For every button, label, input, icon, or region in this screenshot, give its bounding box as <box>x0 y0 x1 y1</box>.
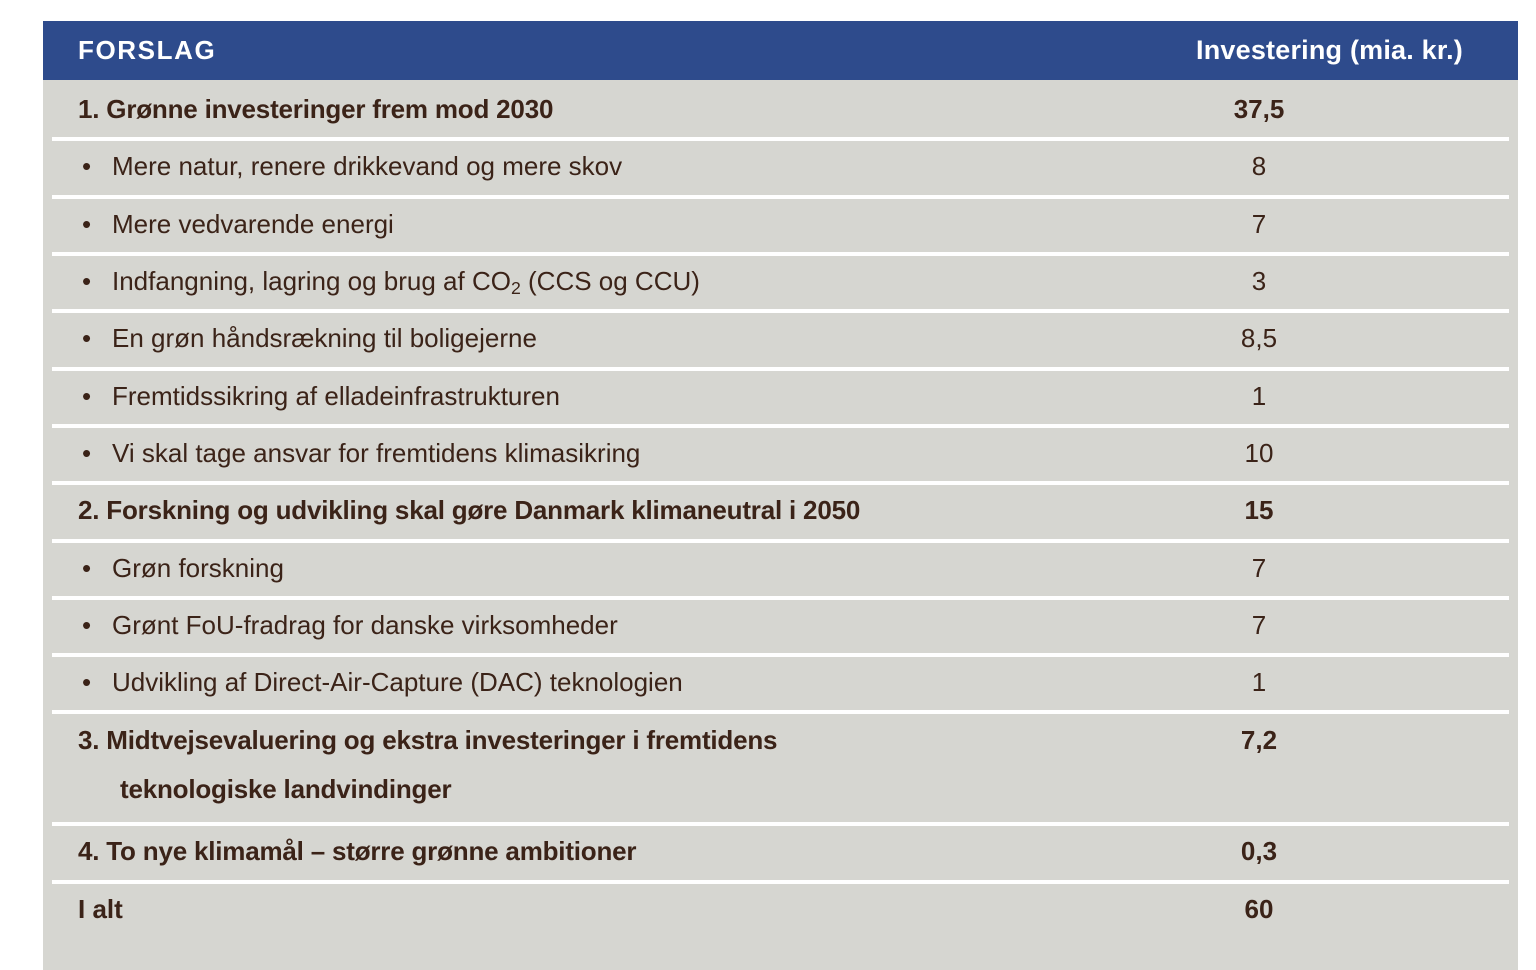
table-row: • Grønt FoU-fradrag for danske virksomhe… <box>43 596 1518 653</box>
subscript-two: 2 <box>511 278 521 298</box>
row-value: 8,5 <box>1098 309 1518 366</box>
row-label: • En grøn håndsrækning til boligejerne <box>43 309 1098 366</box>
row-value: 7,2 <box>1098 710 1518 768</box>
row-label: • Udvikling af Direct-Air-Capture (DAC) … <box>43 653 1098 710</box>
table-row: • Mere vedvarende energi 7 <box>43 195 1518 252</box>
row-label: 4. To nye klimamål – større grønne ambit… <box>43 822 1098 879</box>
table-row: • Udvikling af Direct-Air-Capture (DAC) … <box>43 653 1518 710</box>
row-value: 7 <box>1098 596 1518 653</box>
table-row: • Grøn forskning 7 <box>43 539 1518 596</box>
row-value: 15 <box>1098 481 1518 538</box>
table-header-row: FORSLAG Investering (mia. kr.) <box>43 21 1518 80</box>
row-value: 0,3 <box>1098 822 1518 879</box>
row-label: • Indfangning, lagring og brug af CO2 (C… <box>43 252 1098 309</box>
table-row: • Fremtidssikring af elladeinfrastruktur… <box>43 367 1518 424</box>
bullet-icon: • <box>82 608 112 642</box>
bullet-icon: • <box>82 436 112 470</box>
bullet-icon: • <box>82 321 112 355</box>
page-root: FORSLAG Investering (mia. kr.) 1. Grønne… <box>0 0 1536 941</box>
bullet-icon: • <box>82 149 112 183</box>
row-label-text: Indfangning, lagring og brug af CO2 (CCS… <box>112 264 1088 298</box>
row-label-text: Fremtidssikring af elladeinfrastrukturen <box>112 379 1088 413</box>
row-label-text-post: (CCS og CCU) <box>521 266 700 296</box>
table-row: • Mere natur, renere drikkevand og mere … <box>43 137 1518 194</box>
row-value: 1 <box>1098 367 1518 424</box>
row-label: • Mere natur, renere drikkevand og mere … <box>43 137 1098 194</box>
table-row: 2. Forskning og udvikling skal gøre Danm… <box>43 481 1518 538</box>
row-value: 8 <box>1098 137 1518 194</box>
row-label-text: Grønt FoU-fradrag for danske virksomhede… <box>112 608 1088 642</box>
row-label: 3. Midtvejsevaluering og ekstra invester… <box>43 710 1098 817</box>
row-value: 7 <box>1098 195 1518 252</box>
row-label: • Fremtidssikring af elladeinfrastruktur… <box>43 367 1098 424</box>
table-row: • Indfangning, lagring og brug af CO2 (C… <box>43 252 1518 309</box>
bullet-icon: • <box>82 379 112 413</box>
row-label: I alt <box>43 880 1098 937</box>
row-label-text: Grøn forskning <box>112 551 1088 585</box>
table-body: 1. Grønne investeringer frem mod 2030 37… <box>43 80 1518 970</box>
table-row: 4. To nye klimamål – større grønne ambit… <box>43 822 1518 879</box>
row-value: 60 <box>1098 880 1518 937</box>
row-label: • Grøn forskning <box>43 539 1098 596</box>
row-label: 1. Grønne investeringer frem mod 2030 <box>43 80 1098 137</box>
bullet-icon: • <box>82 551 112 585</box>
row-value: 1 <box>1098 653 1518 710</box>
column-header-proposal: FORSLAG <box>78 35 1043 66</box>
row-label-text: Mere natur, renere drikkevand og mere sk… <box>112 149 1088 183</box>
row-label-line2: teknologiske landvindinger <box>78 758 1088 806</box>
table-row: • Vi skal tage ansvar for fremtidens kli… <box>43 424 1518 481</box>
row-label: • Mere vedvarende energi <box>43 195 1098 252</box>
bullet-icon: • <box>82 207 112 241</box>
row-value: 10 <box>1098 424 1518 481</box>
row-value: 7 <box>1098 539 1518 596</box>
row-label-text: Udvikling af Direct-Air-Capture (DAC) te… <box>112 665 1088 699</box>
row-label: • Vi skal tage ansvar for fremtidens kli… <box>43 424 1098 481</box>
row-label-line1: 3. Midtvejsevaluering og ekstra invester… <box>78 725 777 755</box>
table-row: 3. Midtvejsevaluering og ekstra invester… <box>43 710 1518 822</box>
row-label-text-pre: Indfangning, lagring og brug af CO <box>112 266 511 296</box>
row-label: 2. Forskning og udvikling skal gøre Danm… <box>43 481 1098 538</box>
row-label-text: En grøn håndsrækning til boligejerne <box>112 321 1088 355</box>
row-label-text: Vi skal tage ansvar for fremtidens klima… <box>112 436 1088 470</box>
column-header-investment: Investering (mia. kr.) <box>1043 35 1518 66</box>
row-label-text: Mere vedvarende energi <box>112 207 1088 241</box>
table-row: 1. Grønne investeringer frem mod 2030 37… <box>43 80 1518 137</box>
bullet-icon: • <box>82 665 112 699</box>
row-value: 37,5 <box>1098 80 1518 137</box>
row-value: 3 <box>1098 252 1518 309</box>
bullet-icon: • <box>82 264 112 298</box>
table-row: • En grøn håndsrækning til boligejerne 8… <box>43 309 1518 366</box>
table-row-total: I alt 60 <box>43 880 1518 937</box>
investment-proposal-table: FORSLAG Investering (mia. kr.) 1. Grønne… <box>43 21 1518 970</box>
row-label: • Grønt FoU-fradrag for danske virksomhe… <box>43 596 1098 653</box>
